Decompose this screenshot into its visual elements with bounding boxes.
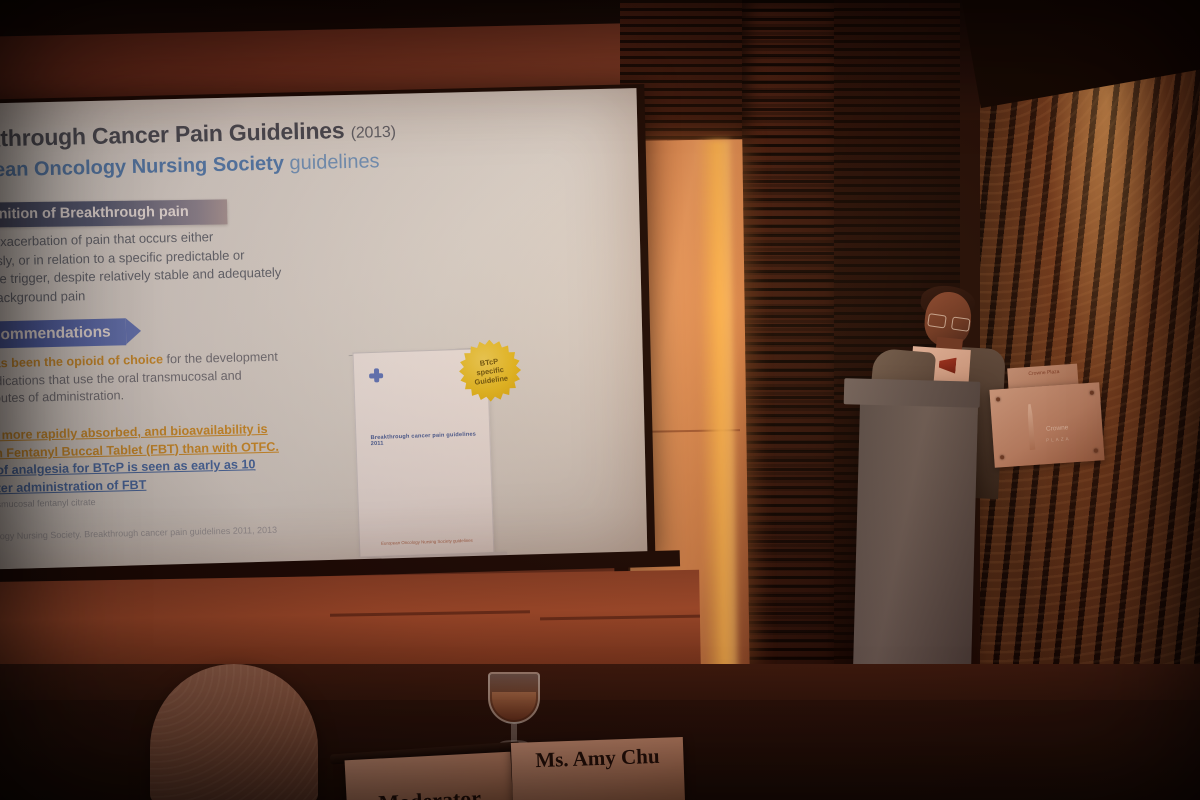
slide-title-text: Breakthrough Cancer Pain Guidelines [0, 117, 345, 153]
definition-body-text: A transient exacerbation of pain that oc… [0, 226, 289, 308]
rec1-highlight: Fentanyl has been the opioid of choice [0, 352, 163, 371]
sign-screw-top-right [1090, 391, 1094, 395]
water-glass-icon [488, 672, 540, 748]
rec2-blue-text: The onset of analgesia for BTcP is seen … [0, 457, 256, 496]
sign-screw-top-left [996, 397, 1000, 401]
slide-subtitle: European Oncology Nursing Society guidel… [0, 146, 576, 184]
upholstered-bench [0, 570, 701, 679]
btcp-specific-guideline-badge: BTcP specific Guideline [458, 339, 521, 402]
recommendation-paragraph-2: Fentanyl is more rapidly absorbed, and b… [0, 421, 284, 500]
conference-photo-scene: Breakthrough Cancer Pain Guidelines (201… [0, 0, 1200, 800]
definition-banner: Definition of Breakthrough pain [0, 199, 228, 228]
lectern-top-surface [844, 378, 981, 408]
slide-subtitle-tail: guidelines [289, 150, 380, 174]
badge-text-block: BTcP specific Guideline [455, 336, 524, 405]
sign-screw-bottom-right [1094, 449, 1098, 453]
slide-title-year: (2013) [351, 124, 396, 142]
nameplate-moderator: Moderator [345, 752, 514, 800]
presentation-slide: Breakthrough Cancer Pain Guidelines (201… [0, 88, 647, 570]
projection-screen[interactable]: Breakthrough Cancer Pain Guidelines (201… [0, 88, 647, 570]
recommendation-paragraph-1: Fentanyl has been the opioid of choice f… [0, 349, 282, 410]
recommendations-banner: Recommendations [0, 318, 126, 350]
slide-footnote-citation: European Oncology Nursing Society. Break… [0, 524, 295, 542]
slide-subtitle-text: European Oncology Nursing Society [0, 152, 284, 182]
rec2-orange-text: Fentanyl is more rapidly absorbed, and b… [0, 422, 279, 461]
nameplate-amy-chu: Ms. Amy Chu [511, 737, 685, 800]
blue-cross-icon [369, 368, 383, 382]
sign-screw-bottom-left [1000, 455, 1004, 459]
